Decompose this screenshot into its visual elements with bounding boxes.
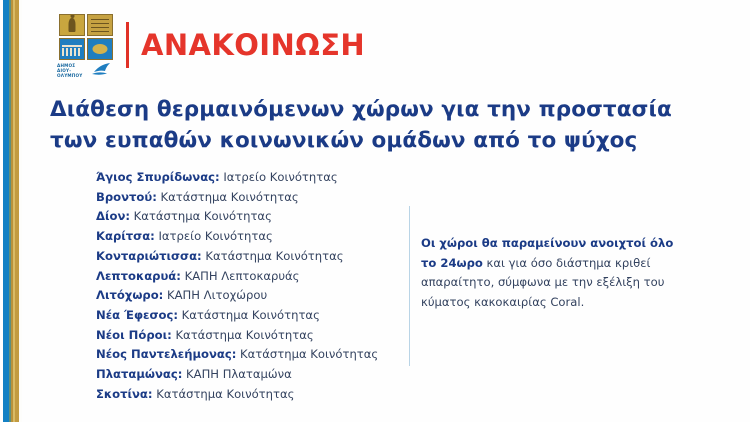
ruins-glyph-icon (62, 48, 82, 56)
venue-place: Άγιος Σπυρίδωνας: (96, 170, 220, 184)
coin-glyph-icon (93, 44, 108, 54)
venue-place: Νέοι Πόροι: (96, 328, 172, 342)
list-item: Λιτόχωρο: ΚΑΠΗ Λιτοχώρου (96, 286, 406, 306)
crest-tile-ruins-icon (59, 38, 85, 60)
venue-place: Λιτόχωρο: (96, 288, 163, 302)
crest-icon (59, 14, 113, 60)
venue-place: Δίον: (96, 209, 130, 223)
list-item: Κονταριώτισσα: Κατάστημα Κοινότητας (96, 247, 406, 267)
venue-facility: Κατάστημα Κοινότητας (157, 190, 299, 204)
venue-facility: Ιατρείο Κοινότητας (155, 229, 273, 243)
venue-facility: Κατάστημα Κοινότητας (202, 249, 344, 263)
column-divider (409, 206, 410, 366)
venue-list: Άγιος Σπυρίδωνας: Ιατρείο ΚοινότηταςΒρον… (96, 168, 406, 404)
page-title: Διάθεση θερμαινόμενων χώρων για την προσ… (50, 94, 730, 156)
announcement-slide: ΔΗΜΟΣ ΔΙΟΥ-ΟΛΥΜΠΟΥ ΑΝΑΚΟΙΝΩΣΗ Διάθεση θε… (0, 0, 750, 422)
crest-tile-coin-icon (87, 38, 113, 60)
venue-place: Σκοτίνα: (96, 387, 153, 401)
list-item: Λεπτοκαρυά: ΚΑΠΗ Λεπτοκαρυάς (96, 267, 406, 287)
venue-facility: ΚΑΠΗ Πλαταμώνα (182, 367, 291, 381)
tablet-glyph-icon (91, 19, 109, 32)
list-item: Πλαταμώνας: ΚΑΠΗ Πλαταμώνα (96, 365, 406, 385)
crest-caption: ΔΗΜΟΣ ΔΙΟΥ-ΟΛΥΜΠΟΥ (57, 63, 91, 78)
slide-body: Άγιος Σπυρίδωνας: Ιατρείο ΚοινότηταςΒρον… (96, 168, 710, 414)
slide-header: ΔΗΜΟΣ ΔΙΟΥ-ΟΛΥΜΠΟΥ ΑΝΑΚΟΙΝΩΣΗ (55, 14, 365, 76)
announcement-title: ΑΝΑΚΟΙΝΩΣΗ (141, 31, 365, 60)
crest-tile-tablet-icon (87, 14, 113, 36)
list-item: Σκοτίνα: Κατάστημα Κοινότητας (96, 385, 406, 405)
venue-facility: ΚΑΠΗ Λιτοχώρου (163, 288, 267, 302)
crest-caption-line2: ΔΙΟΥ-ΟΛΥΜΠΟΥ (57, 68, 91, 78)
municipality-logo: ΔΗΜΟΣ ΔΙΟΥ-ΟΛΥΜΠΟΥ (55, 14, 117, 76)
list-item: Νέος Παντελεήμονας: Κατάστημα Κοινότητας (96, 345, 406, 365)
opening-hours-note: Οι χώροι θα παραμείνουν ανοιχτοί όλο το … (421, 234, 686, 313)
crest-caption-row: ΔΗΜΟΣ ΔΙΟΥ-ΟΛΥΜΠΟΥ (57, 62, 115, 76)
list-item: Άγιος Σπυρίδωνας: Ιατρείο Κοινότητας (96, 168, 406, 188)
venue-place: Λεπτοκαρυά: (96, 269, 181, 283)
list-item: Νέα Έφεσος: Κατάστημα Κοινότητας (96, 306, 406, 326)
list-item: Δίον: Κατάστημα Κοινότητας (96, 207, 406, 227)
left-edge-stripes (0, 0, 22, 422)
list-item: Νέοι Πόροι: Κατάστημα Κοινότητας (96, 326, 406, 346)
list-item: Καρίτσα: Ιατρείο Κοινότητας (96, 227, 406, 247)
statue-glyph-icon (69, 18, 76, 32)
venue-facility: Κατάστημα Κοινότητας (153, 387, 295, 401)
venue-place: Νέος Παντελεήμονας: (96, 347, 236, 361)
page-title-line2: των ευπαθών κοινωνικών ομάδων από το ψύχ… (50, 125, 730, 156)
venue-facility: Κατάστημα Κοινότητας (236, 347, 378, 361)
venue-facility: Ιατρείο Κοινότητας (220, 170, 338, 184)
page-title-line1: Διάθεση θερμαινόμενων χώρων για την προσ… (50, 94, 730, 125)
list-item: Βροντού: Κατάστημα Κοινότητας (96, 188, 406, 208)
venue-place: Καρίτσα: (96, 229, 155, 243)
crest-tile-statue-icon (59, 14, 85, 36)
venue-place: Κονταριώτισσα: (96, 249, 202, 263)
venue-place: Βροντού: (96, 190, 157, 204)
dolphin-icon (92, 61, 114, 75)
venue-place: Νέα Έφεσος: (96, 308, 178, 322)
venue-facility: Κατάστημα Κοινότητας (130, 209, 272, 223)
venue-facility: Κατάστημα Κοινότητας (172, 328, 314, 342)
header-red-rule (126, 22, 129, 68)
venue-facility: Κατάστημα Κοινότητας (178, 308, 320, 322)
venue-place: Πλαταμώνας: (96, 367, 182, 381)
venue-facility: ΚΑΠΗ Λεπτοκαρυάς (181, 269, 300, 283)
stripe-white-inner (19, 0, 22, 422)
